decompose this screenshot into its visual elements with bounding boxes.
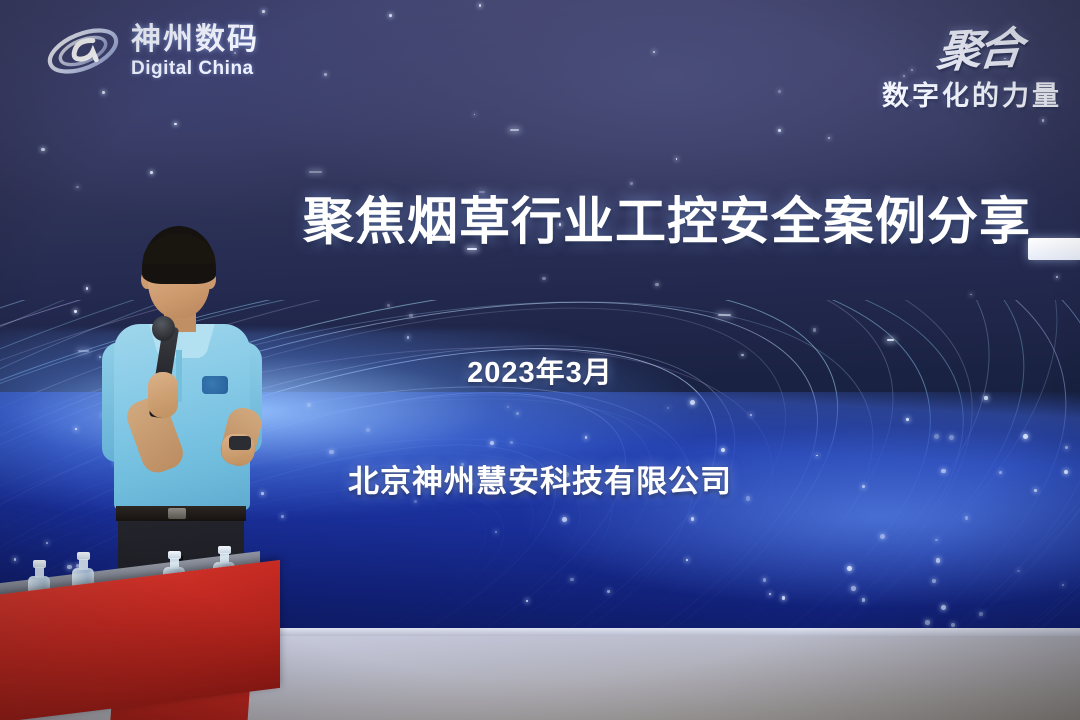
stage-scene: 聚焦烟草行业工控安全案例分享 2023年3月 北京神州慧安科技有限公司 [0,0,1080,720]
digital-china-logo: 神州数码 Digital China [44,18,259,84]
digital-china-swirl-mark [44,18,122,84]
screen-right-edge-panel [1028,238,1080,260]
brand-name-cn: 神州数码 [131,25,259,55]
event-slogan-logo: 聚合 数字化的力量 [882,14,1062,113]
digital-china-wordmark: 神州数码 Digital China [131,25,259,78]
slogan-subtitle: 数字化的力量 [882,74,1062,113]
presentation-clicker [229,436,251,450]
slogan-calligraphy: 聚合 [934,12,1023,80]
brand-name-en: Digital China [131,59,259,78]
speaker-belt-buckle [168,508,186,519]
speaker-shirt-logo [202,376,228,394]
speaker-left-hand [148,372,178,418]
slide-title: 聚焦烟草行业工控安全案例分享 [303,180,1023,254]
